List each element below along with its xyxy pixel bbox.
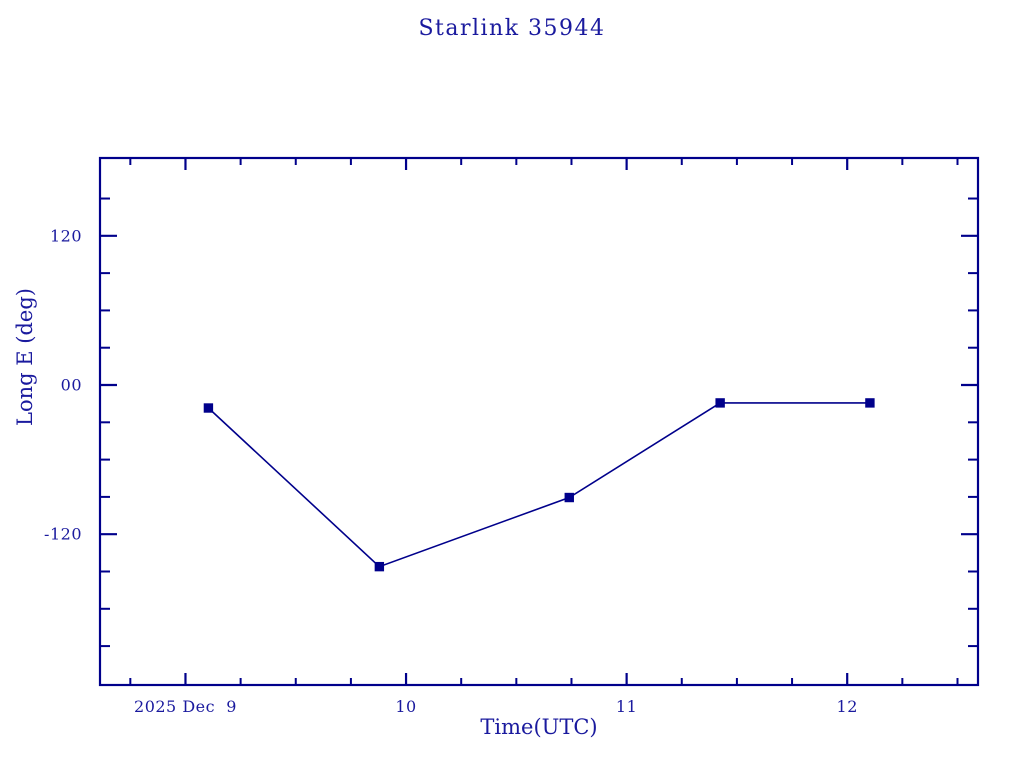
x-axis-label: Time(UTC)	[339, 715, 739, 739]
axis-frame	[100, 158, 978, 685]
x-tick-label-1: 10	[395, 697, 416, 716]
y-axis-ticks	[100, 199, 978, 647]
data-point-4	[866, 399, 874, 407]
chart-figure: Starlink 35944 Long E (deg) Time(UTC) 20…	[0, 0, 1024, 768]
data-point-1	[375, 563, 383, 571]
y-tick-label-1: 00	[0, 376, 82, 395]
series-polyline	[208, 403, 870, 567]
data-series-line	[208, 403, 870, 567]
data-point-3	[716, 399, 724, 407]
x-tick-label-2: 11	[616, 697, 637, 716]
data-point-2	[565, 494, 573, 502]
y-axis-label: Long E (deg)	[13, 257, 37, 457]
chart-title: Starlink 35944	[0, 16, 1024, 41]
x-axis-ticks	[130, 158, 957, 685]
x-tick-label-3: 12	[837, 697, 858, 716]
y-tick-label-0: 120	[0, 226, 82, 245]
y-tick-label-2: -120	[0, 525, 82, 544]
data-point-0	[204, 404, 212, 412]
data-series-markers	[204, 399, 874, 571]
x-tick-label-0: 2025 Dec 9	[134, 697, 237, 716]
plot-area	[0, 0, 1024, 768]
